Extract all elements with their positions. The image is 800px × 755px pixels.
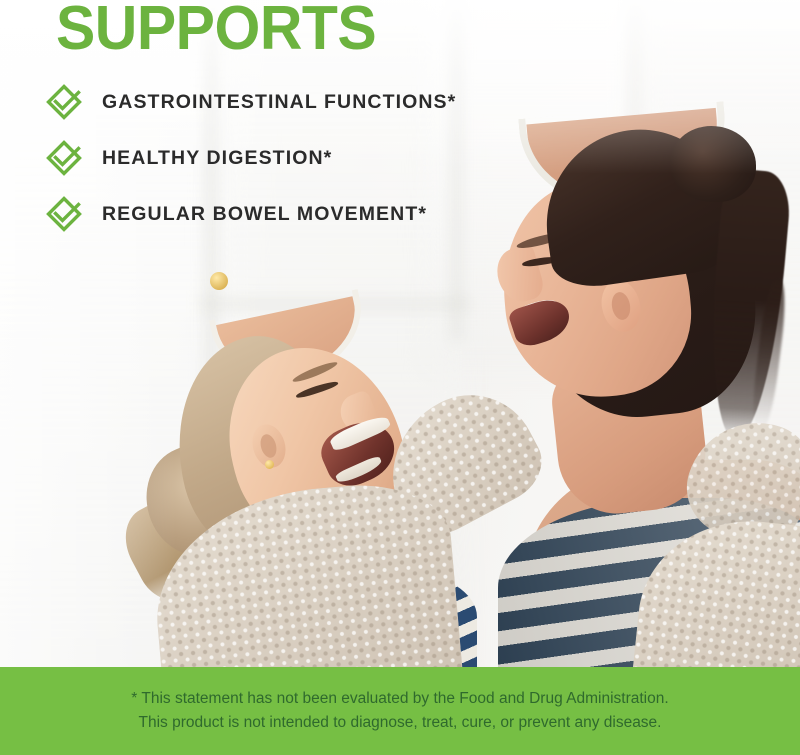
benefits-list: GASTROINTESTINAL FUNCTIONS* HEALTHY DIGE… <box>44 74 664 242</box>
mother-hair-bun <box>670 126 756 202</box>
disclaimer-line-2: This product is not intended to diagnose… <box>138 711 661 735</box>
disclaimer-line-1: * This statement has not been evaluated … <box>131 687 668 711</box>
list-item: REGULAR BOWEL MOVEMENT* <box>44 186 664 242</box>
list-item: GASTROINTESTINAL FUNCTIONS* <box>44 74 664 130</box>
product-benefits-banner: SUPPORTS GASTROINTESTINAL FUNCTIONS* <box>0 0 800 755</box>
disclaimer-band: * This statement has not been evaluated … <box>0 667 800 755</box>
benefit-label: REGULAR BOWEL MOVEMENT* <box>102 203 427 226</box>
necklace-pendant <box>210 272 228 290</box>
benefit-label: GASTROINTESTINAL FUNCTIONS* <box>102 91 456 114</box>
check-diamond-icon <box>44 194 84 234</box>
list-item: HEALTHY DIGESTION* <box>44 130 664 186</box>
child-earring <box>265 460 274 469</box>
check-diamond-icon <box>44 82 84 122</box>
page-title: SUPPORTS <box>56 0 376 61</box>
benefit-label: HEALTHY DIGESTION* <box>102 147 332 170</box>
check-diamond-icon <box>44 138 84 178</box>
